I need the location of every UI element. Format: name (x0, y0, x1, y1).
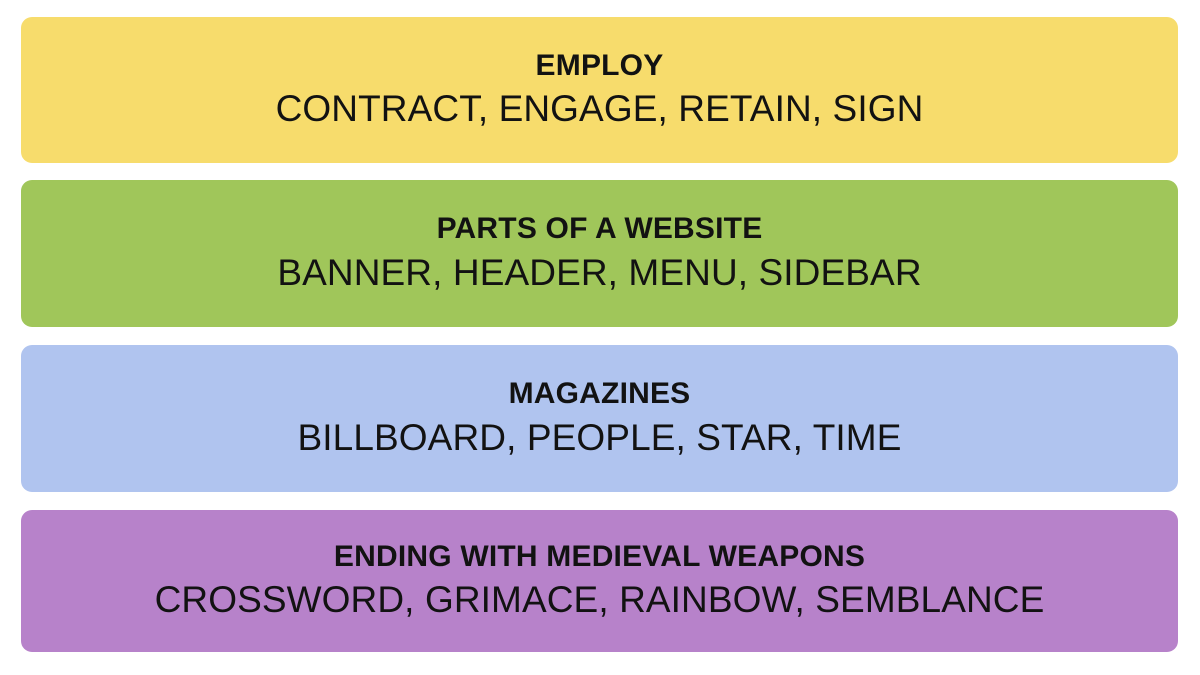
solved-group-row-blue: MAGAZINES BILLBOARD, PEOPLE, STAR, TIME (21, 345, 1178, 492)
solved-group-row-purple: ENDING WITH MEDIEVAL WEAPONS CROSSWORD, … (21, 510, 1178, 652)
group-word-list: CROSSWORD, GRIMACE, RAINBOW, SEMBLANCE (155, 580, 1045, 621)
group-category-title: EMPLOY (536, 50, 664, 82)
solved-group-row-yellow: EMPLOY CONTRACT, ENGAGE, RETAIN, SIGN (21, 17, 1178, 163)
solved-group-row-green: PARTS OF A WEBSITE BANNER, HEADER, MENU,… (21, 180, 1178, 327)
group-category-title: MAGAZINES (509, 378, 691, 410)
group-word-list: BILLBOARD, PEOPLE, STAR, TIME (298, 418, 902, 459)
group-word-list: CONTRACT, ENGAGE, RETAIN, SIGN (276, 89, 924, 130)
group-category-title: PARTS OF A WEBSITE (437, 213, 763, 245)
group-word-list: BANNER, HEADER, MENU, SIDEBAR (277, 253, 921, 294)
group-category-title: ENDING WITH MEDIEVAL WEAPONS (334, 541, 865, 573)
connections-solution-board: EMPLOY CONTRACT, ENGAGE, RETAIN, SIGN PA… (0, 0, 1200, 675)
